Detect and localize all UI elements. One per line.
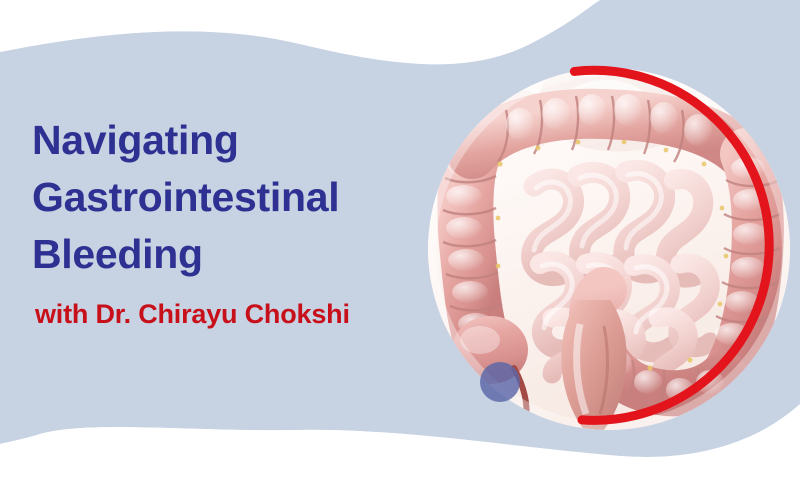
hero-image-circle [428,68,790,430]
blue-accent-dot [480,362,520,402]
text-block: Navigating Gastrointestinal Bleeding wit… [32,112,452,331]
page-title: Navigating Gastrointestinal Bleeding [32,112,452,283]
presenter-subtitle: with Dr. Chirayu Chokshi [35,297,452,331]
banner-root: Navigating Gastrointestinal Bleeding wit… [0,0,800,480]
